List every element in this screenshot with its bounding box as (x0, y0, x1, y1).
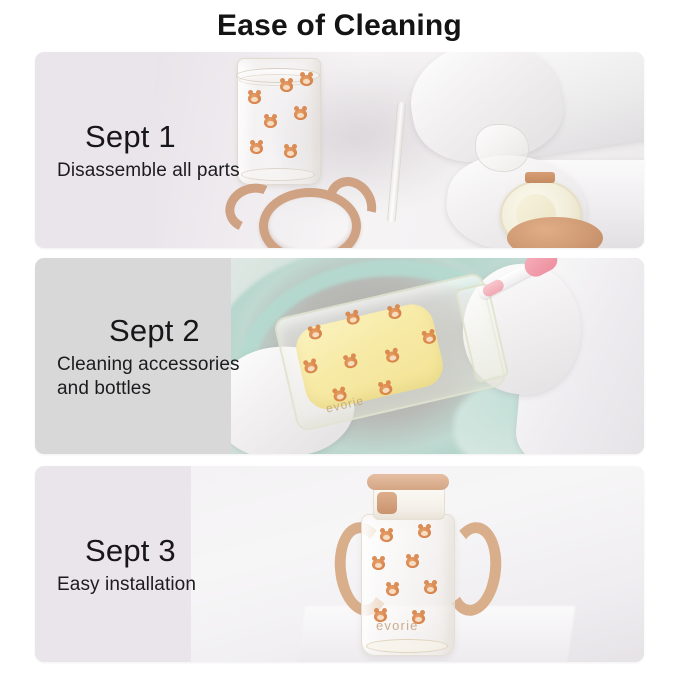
step-2-text-block: Sept 2 Cleaning accessories and bottles (35, 258, 285, 454)
bear-pattern-icon (424, 583, 437, 594)
bear-pattern-icon (294, 109, 307, 120)
sponge-inside-bottle (292, 300, 447, 413)
bear-pattern-icon (300, 75, 313, 86)
cap-flip-lever (367, 474, 449, 490)
cap-release-button (377, 492, 397, 514)
bear-pattern-icon (374, 611, 387, 622)
step-2-photo: evorie (231, 258, 644, 454)
step-2-description: Cleaning accessories and bottles (57, 353, 285, 401)
step-3-title: Sept 3 (57, 532, 285, 570)
bear-pattern-icon (386, 585, 399, 596)
infographic-page: Ease of Cleaning (0, 0, 679, 679)
step-panel-1: Sept 1 Disassemble all parts (35, 52, 644, 248)
lid-hinge (525, 172, 555, 183)
bear-pattern-icon (380, 531, 393, 542)
page-title: Ease of Cleaning (0, 8, 679, 44)
bottle-base (366, 639, 448, 653)
step-2-title: Sept 2 (57, 312, 285, 350)
bear-pattern-icon (418, 527, 431, 538)
step-2-description-line-2: and bottles (57, 377, 285, 401)
step-1-title: Sept 1 (57, 118, 285, 156)
step-3-text-block: Sept 3 Easy installation (35, 466, 285, 662)
step-1-description: Disassemble all parts (57, 159, 285, 183)
step-3-description: Easy installation (57, 573, 285, 597)
step-panel-3: evorie Sept 3 Easy installation (35, 466, 644, 662)
step-1-text-block: Sept 1 Disassemble all parts (35, 52, 285, 248)
assembled-bottle: evorie (361, 514, 455, 656)
bear-pattern-icon (372, 559, 385, 570)
bear-pattern-icon (406, 557, 419, 568)
step-2-description-line-1: Cleaning accessories (57, 353, 285, 377)
bear-pattern-icon (412, 613, 425, 624)
clear-valve-part (475, 124, 529, 172)
brush-grip-band (481, 278, 506, 299)
bear-pattern-icon (284, 147, 297, 158)
step-panel-2: evorie Sept 2 Cleaning (35, 258, 644, 454)
